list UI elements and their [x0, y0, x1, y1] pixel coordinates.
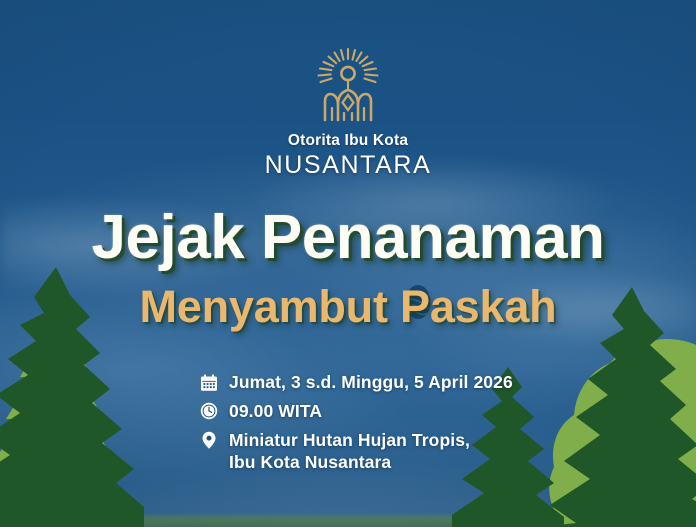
brand-line-otorita: Otorita Ibu Kota: [288, 132, 408, 150]
brand-line-nusantara: NUSANTARA: [265, 151, 432, 180]
event-poster: Otorita Ibu Kota NUSANTARA Jejak Penanam…: [0, 0, 696, 527]
background-grass-strip: [0, 513, 696, 527]
nusantara-tree-sunburst-logo-icon: [311, 48, 385, 126]
detail-row-time: 09.00 WITA: [199, 400, 322, 423]
detail-text-time: 09.00 WITA: [229, 400, 322, 423]
detail-text-date: Jumat, 3 s.d. Minggu, 5 April 2026: [229, 371, 513, 394]
subheadline-container: Menyambut Paskah: [0, 283, 696, 330]
headline-container: Jejak Penanaman: [0, 206, 696, 269]
clock-icon: [199, 402, 218, 421]
event-details-list: Jumat, 3 s.d. Minggu, 5 April 2026 09.00…: [0, 371, 696, 474]
detail-text-location: Miniatur Hutan Hujan Tropis, Ibu Kota Nu…: [229, 429, 470, 475]
calendar-icon: [199, 373, 218, 392]
subheadline-text: Menyambut Paskah: [0, 283, 696, 330]
detail-row-date: Jumat, 3 s.d. Minggu, 5 April 2026: [199, 371, 513, 394]
brand-logo-block: Otorita Ibu Kota NUSANTARA: [0, 48, 696, 180]
map-pin-icon: [199, 431, 218, 450]
detail-row-location: Miniatur Hutan Hujan Tropis, Ibu Kota Nu…: [199, 429, 470, 475]
headline-text: Jejak Penanaman: [0, 206, 696, 269]
